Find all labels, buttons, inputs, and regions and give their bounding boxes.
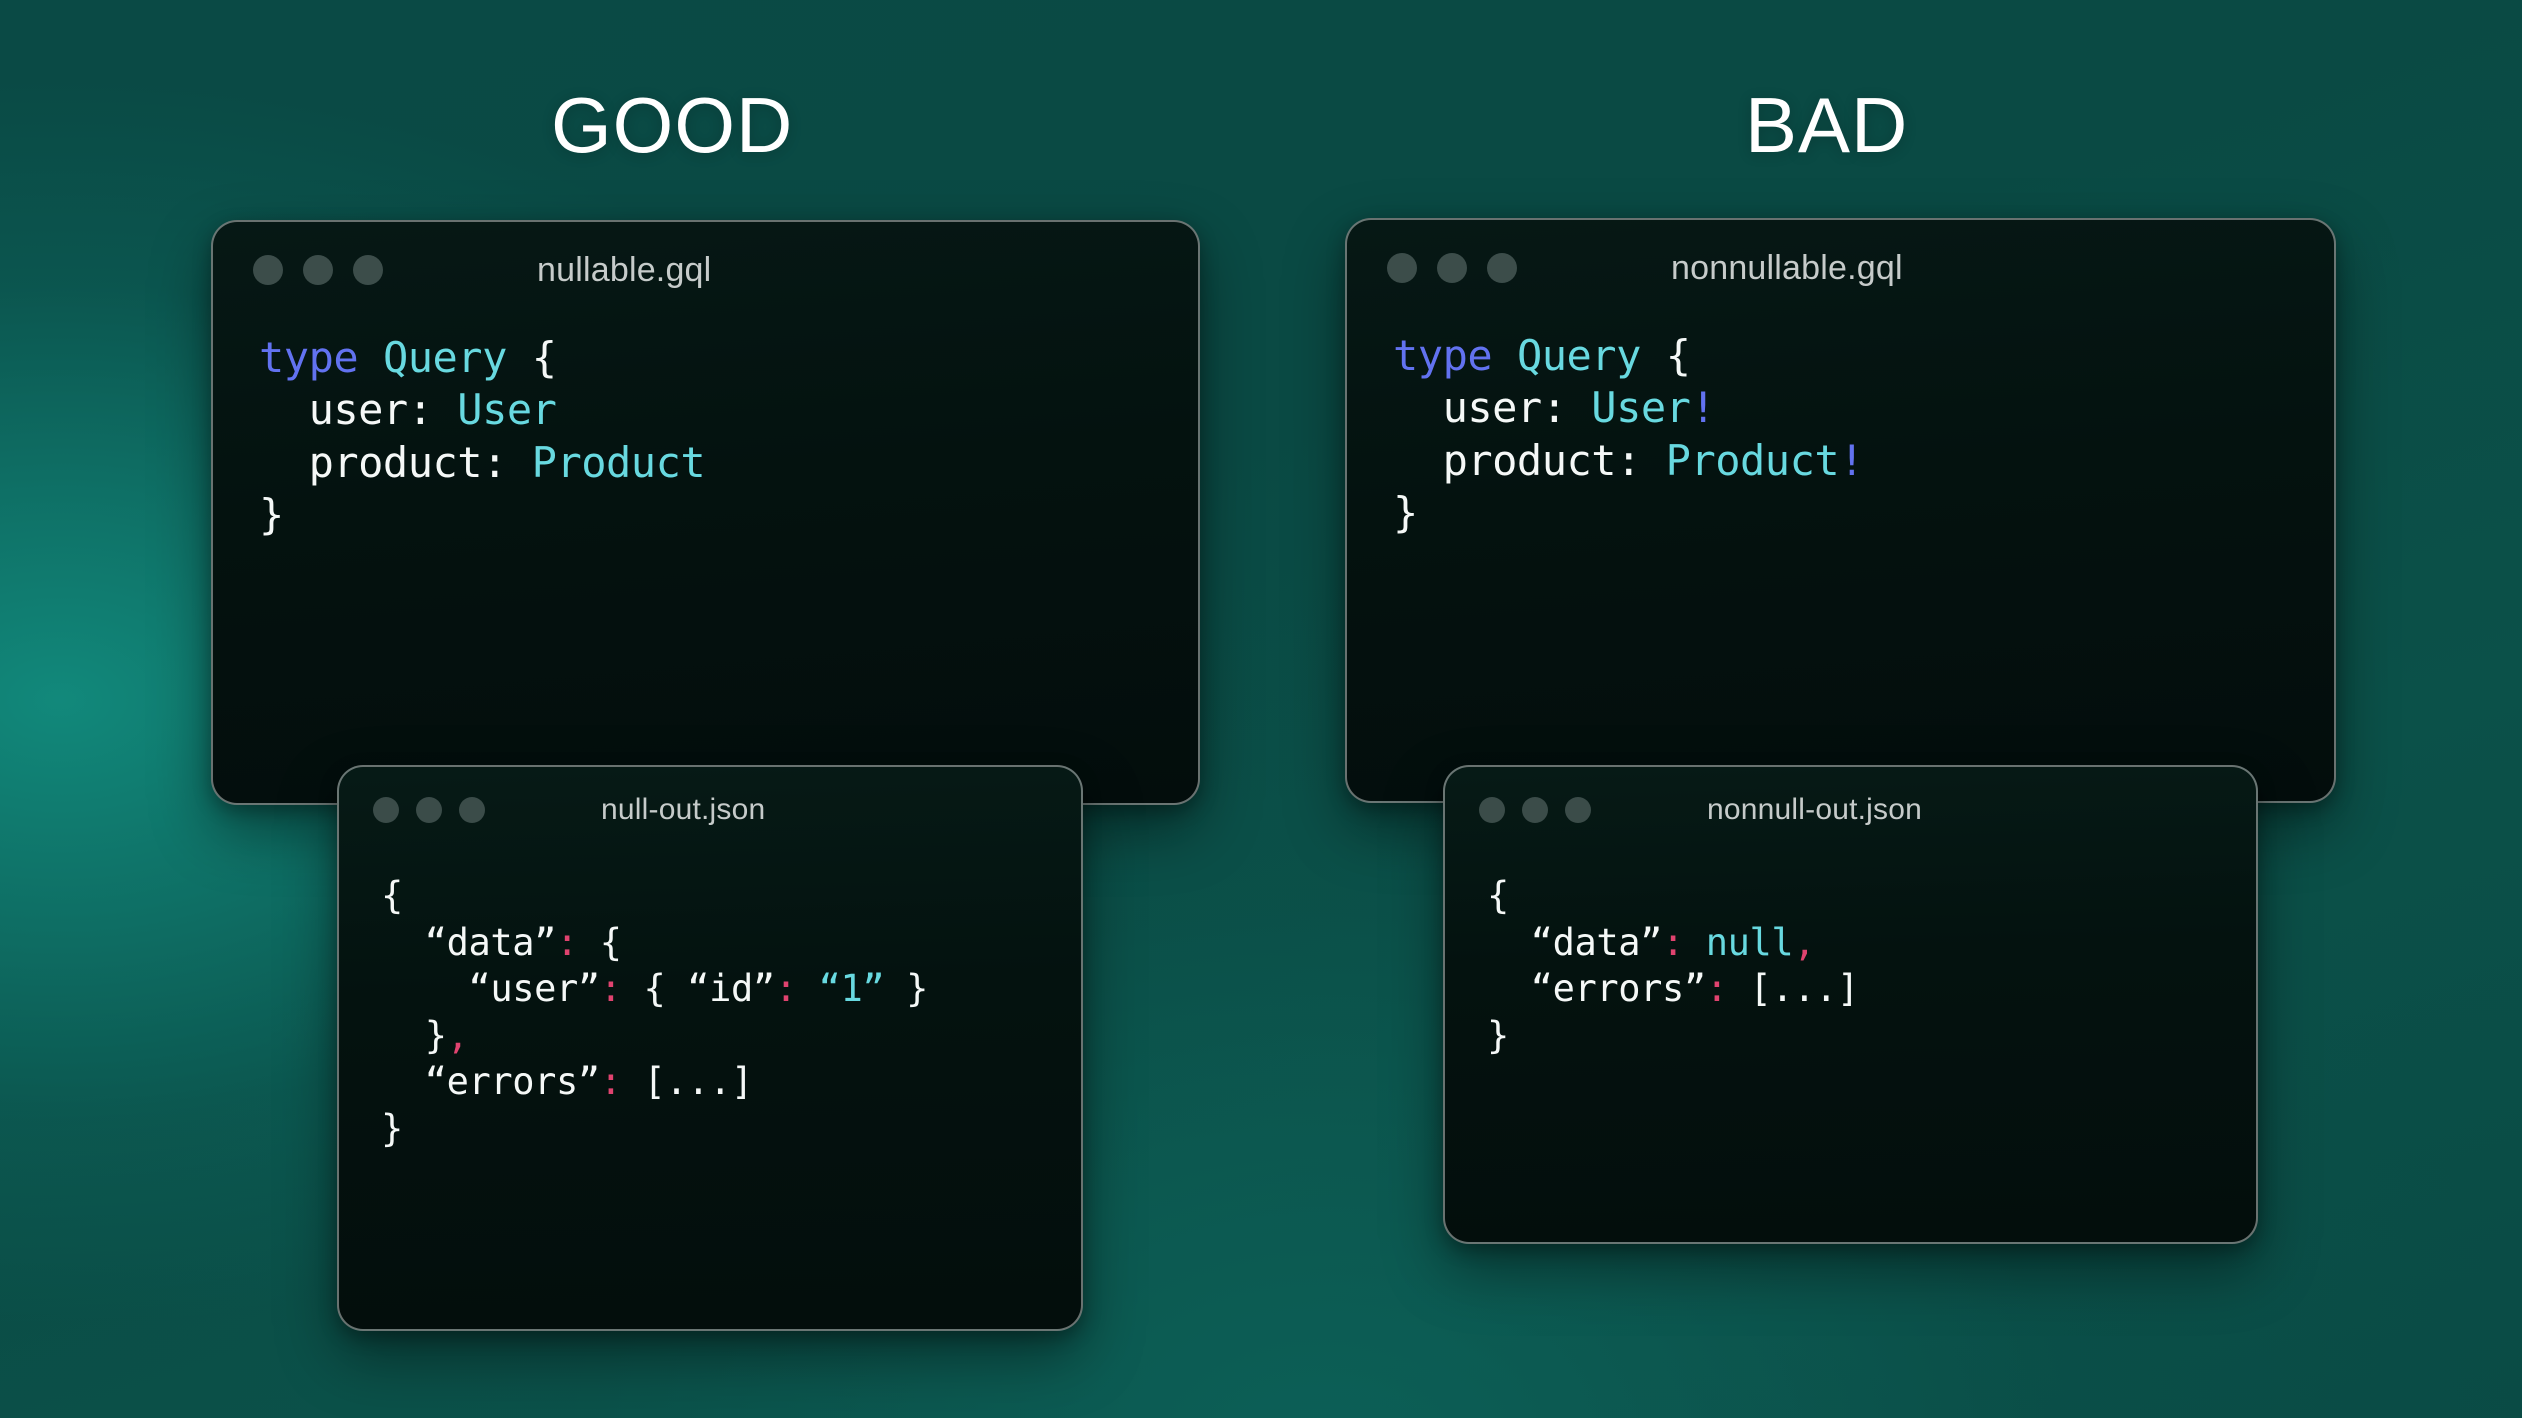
code-token-brace: { xyxy=(622,967,688,1010)
maximize-dot-icon[interactable] xyxy=(459,797,485,823)
code-token-plain xyxy=(1641,331,1666,380)
column-heading-good: GOOD xyxy=(551,86,793,164)
window-dots xyxy=(1387,253,1517,283)
code-token-plain xyxy=(1684,921,1706,964)
code-token-key: “data” xyxy=(381,921,556,964)
code-token-keyword: type xyxy=(1393,331,1492,380)
window-nonnullable-schema[interactable]: nonnullable.gql type Query { user: User!… xyxy=(1345,218,2336,803)
code-token-brace: } xyxy=(1393,488,1418,537)
code-token-value: “1” xyxy=(819,967,885,1010)
close-dot-icon[interactable] xyxy=(253,255,283,285)
code-block: type Query { user: User product: Product… xyxy=(213,318,1198,541)
maximize-dot-icon[interactable] xyxy=(353,255,383,285)
code-token-plain xyxy=(507,333,532,382)
code-line: }, xyxy=(381,1013,1081,1060)
code-block: type Query { user: User! product: Produc… xyxy=(1347,316,2334,539)
maximize-dot-icon[interactable] xyxy=(1565,797,1591,823)
code-line: product: Product! xyxy=(1393,435,2334,487)
window-dots xyxy=(373,797,485,823)
code-block: { “data”: null, “errors”: [...]} xyxy=(1445,853,2256,1059)
code-line: } xyxy=(259,489,1198,541)
code-token-plain xyxy=(797,967,819,1010)
code-token-brace: { xyxy=(381,874,403,917)
code-token-sep: , xyxy=(1793,921,1815,964)
code-line: } xyxy=(381,1106,1081,1153)
code-token-key: “errors” xyxy=(381,1060,600,1103)
window-filename: nullable.gql xyxy=(537,251,711,290)
code-line: “data”: null, xyxy=(1487,920,2256,967)
window-filename: nonnull-out.json xyxy=(1707,793,1922,827)
window-dots xyxy=(1479,797,1591,823)
code-token-type: User xyxy=(457,385,556,434)
code-line: { xyxy=(1487,873,2256,920)
code-token-keyword: type xyxy=(259,333,358,382)
code-token-plain: user: xyxy=(259,385,457,434)
minimize-dot-icon[interactable] xyxy=(303,255,333,285)
window-nullable-schema[interactable]: nullable.gql type Query { user: User pro… xyxy=(211,220,1200,805)
code-line: type Query { xyxy=(1393,330,2334,382)
window-nonnullable-output[interactable]: nonnull-out.json { “data”: null, “errors… xyxy=(1443,765,2258,1244)
code-token-key: “errors” xyxy=(1487,967,1706,1010)
code-token-key: “id” xyxy=(687,967,775,1010)
code-token-brace: } xyxy=(259,490,284,539)
code-line: “user”: { “id”: “1” } xyxy=(381,966,1081,1013)
code-token-brace: { xyxy=(1487,874,1509,917)
code-token-plain xyxy=(1492,331,1517,380)
code-token-sep: : xyxy=(1662,921,1684,964)
code-token-brace: [...] xyxy=(622,1060,753,1103)
code-token-type: Query xyxy=(1517,331,1641,380)
comparison-stage: GOOD BAD nullable.gql type Query { user:… xyxy=(0,0,2522,1418)
window-filename: null-out.json xyxy=(601,793,765,827)
code-line: user: User xyxy=(259,384,1198,436)
code-token-type: Query xyxy=(383,333,507,382)
code-line: “data”: { xyxy=(381,920,1081,967)
window-nullable-output[interactable]: null-out.json { “data”: { “user”: { “id”… xyxy=(337,765,1083,1331)
code-token-brace: } xyxy=(884,967,928,1010)
code-line: “errors”: [...] xyxy=(381,1059,1081,1106)
code-token-sep: : xyxy=(775,967,797,1010)
code-token-plain: user: xyxy=(1393,383,1591,432)
code-line: } xyxy=(1487,1013,2256,1060)
close-dot-icon[interactable] xyxy=(1387,253,1417,283)
code-token-plain xyxy=(358,333,383,382)
code-block: { “data”: { “user”: { “id”: “1” } }, “er… xyxy=(339,853,1081,1153)
code-token-plain: product: xyxy=(259,438,532,487)
code-token-sep: : xyxy=(556,921,578,964)
code-token-sep: : xyxy=(1706,967,1728,1010)
minimize-dot-icon[interactable] xyxy=(1437,253,1467,283)
code-token-sep: : xyxy=(600,967,622,1010)
maximize-dot-icon[interactable] xyxy=(1487,253,1517,283)
titlebar: nonnull-out.json xyxy=(1445,767,2256,853)
titlebar: null-out.json xyxy=(339,767,1081,853)
code-token-type: Product xyxy=(1666,436,1840,485)
code-token-key: “user” xyxy=(381,967,600,1010)
code-token-value: null xyxy=(1706,921,1794,964)
window-filename: nonnullable.gql xyxy=(1671,249,1903,288)
close-dot-icon[interactable] xyxy=(373,797,399,823)
code-token-brace: { xyxy=(532,333,557,382)
titlebar: nullable.gql xyxy=(213,222,1198,318)
minimize-dot-icon[interactable] xyxy=(1522,797,1548,823)
window-dots xyxy=(253,255,383,285)
code-token-brace: { xyxy=(1666,331,1691,380)
code-token-plain: product: xyxy=(1393,436,1666,485)
code-token-sep: , xyxy=(447,1014,469,1057)
code-token-sep: : xyxy=(600,1060,622,1103)
code-token-key: “data” xyxy=(1487,921,1662,964)
code-token-type: Product xyxy=(532,438,706,487)
code-line: type Query { xyxy=(259,332,1198,384)
code-token-bang: ! xyxy=(1690,383,1715,432)
code-line: product: Product xyxy=(259,437,1198,489)
code-line: user: User! xyxy=(1393,382,2334,434)
code-token-type: User xyxy=(1591,383,1690,432)
column-heading-bad: BAD xyxy=(1745,86,1908,164)
code-token-brace: } xyxy=(381,1107,403,1150)
code-line: “errors”: [...] xyxy=(1487,966,2256,1013)
code-token-brace: } xyxy=(1487,1014,1509,1057)
titlebar: nonnullable.gql xyxy=(1347,220,2334,316)
code-token-bang: ! xyxy=(1839,436,1864,485)
minimize-dot-icon[interactable] xyxy=(416,797,442,823)
code-line: { xyxy=(381,873,1081,920)
code-token-brace: } xyxy=(381,1014,447,1057)
code-token-brace: [...] xyxy=(1728,967,1859,1010)
close-dot-icon[interactable] xyxy=(1479,797,1505,823)
code-line: } xyxy=(1393,487,2334,539)
code-token-brace: { xyxy=(578,921,622,964)
